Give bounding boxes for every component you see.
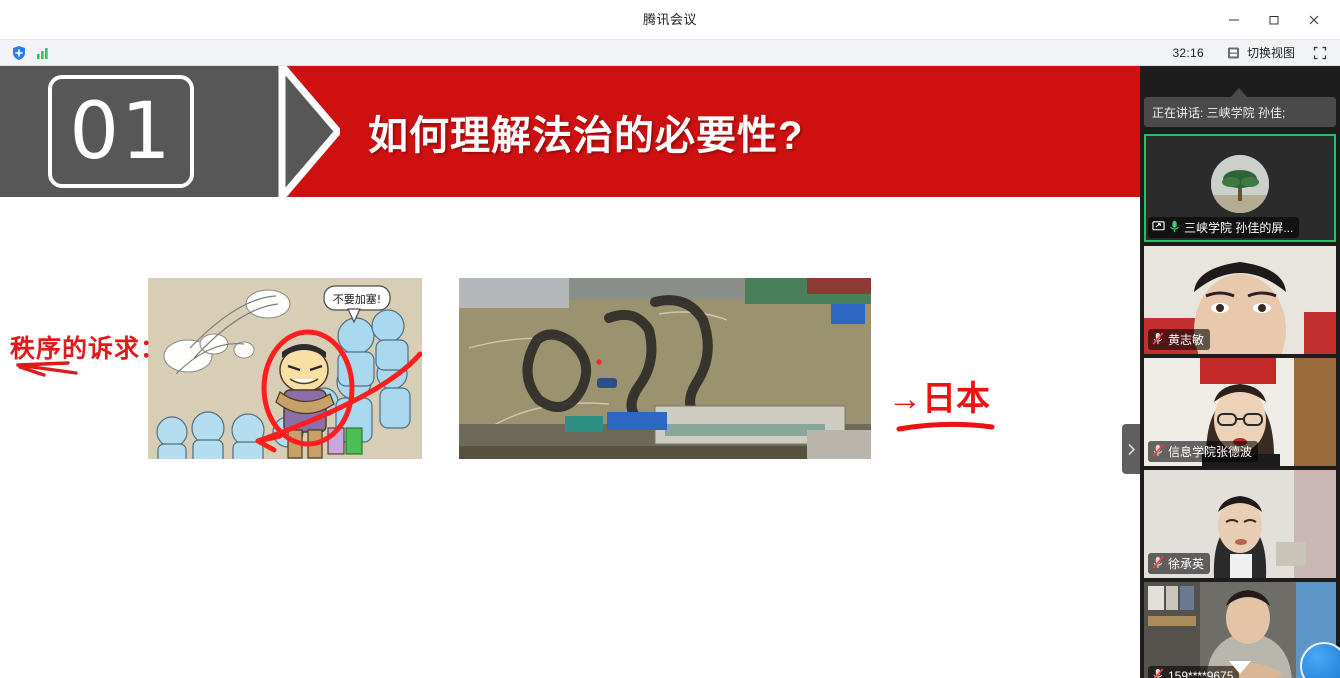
security-shield-icon[interactable] — [10, 44, 28, 62]
tree-avatar — [1211, 155, 1269, 213]
participant-name: 黄志敏 — [1168, 331, 1204, 348]
speaking-banner: 正在讲话: 三峡学院 孙佳; — [1144, 97, 1336, 127]
mic-muted-icon — [1152, 332, 1164, 348]
mic-muted-icon — [1152, 668, 1164, 678]
tile-label: 黄志敏 — [1148, 329, 1210, 350]
video-tile-participant-3[interactable]: 信息学院张德波 — [1144, 358, 1336, 466]
toolbar-right-group: 32:16 切换视图 — [1166, 42, 1340, 64]
meeting-timer: 32:16 — [1166, 45, 1210, 61]
toolbar-left-group — [0, 44, 52, 62]
cartoon-queue-cutting-image: 不要加塞! — [148, 278, 422, 459]
maximize-icon[interactable] — [1254, 5, 1294, 35]
layout-switch-icon — [1225, 44, 1243, 62]
japan-underline-stroke — [896, 419, 996, 437]
participant-video-rail: 正在讲话: 三峡学院 孙佳; — [1140, 66, 1340, 678]
mic-muted-icon — [1152, 444, 1164, 460]
slide-title: 如何理解法治的必要性? — [368, 66, 803, 197]
meeting-toolbar: 32:16 切换视图 — [0, 40, 1340, 66]
window-titlebar: 腾讯会议 — [0, 0, 1340, 40]
section-number-badge: 01 — [48, 75, 194, 188]
japan-annotation: →日本 — [888, 371, 990, 420]
switch-view-label: 切换视图 — [1247, 44, 1295, 61]
participant-name: 信息学院张德波 — [1168, 443, 1252, 460]
window-controls — [1214, 0, 1334, 40]
video-tile-shared-screen[interactable]: 三峡学院 孙佳的屏... — [1144, 134, 1336, 242]
aerial-queue-photo-image — [459, 278, 871, 459]
participant-name: 徐承英 — [1168, 555, 1204, 572]
tile-label: 三峡学院 孙佳的屏... — [1148, 217, 1299, 238]
screen-share-icon — [1152, 220, 1165, 236]
participant-name: 159****9675 — [1168, 669, 1233, 678]
svg-text:不要加塞!: 不要加塞! — [333, 292, 381, 306]
fullscreen-icon[interactable] — [1310, 44, 1330, 62]
tile-label: 徐承英 — [1148, 553, 1210, 574]
tencent-meeting-window: 腾讯会议 — [0, 0, 1340, 678]
triangle-down-icon[interactable] — [1229, 661, 1251, 674]
chevron-right-icon — [1127, 443, 1136, 456]
video-tile-participant-4[interactable]: 徐承英 — [1144, 470, 1336, 578]
mic-on-icon — [1169, 220, 1180, 236]
tile-label: 159****9675 — [1148, 666, 1239, 678]
collapse-panel-handle[interactable] — [1122, 424, 1140, 474]
switch-view-button[interactable]: 切换视图 — [1220, 42, 1300, 64]
participant-name: 三峡学院 孙佳的屏... — [1184, 219, 1293, 236]
banner-arrow-shape — [220, 66, 340, 197]
window-title: 腾讯会议 — [0, 0, 1340, 40]
shared-screen-stage: 01 如何理解法治的必要性? — [0, 66, 1140, 678]
japan-text: →日本 — [888, 381, 990, 418]
minimize-icon[interactable] — [1214, 5, 1254, 35]
order-demand-underline-stroke — [14, 359, 80, 381]
order-demand-annotation: 秩序的诉求： — [10, 329, 166, 365]
mic-muted-icon — [1152, 556, 1164, 572]
video-tile-participant-2[interactable]: 黄志敏 — [1144, 246, 1336, 354]
slide-banner: 01 如何理解法治的必要性? — [0, 66, 1140, 197]
tile-label: 信息学院张德波 — [1148, 441, 1258, 462]
close-icon[interactable] — [1294, 5, 1334, 35]
network-signal-icon[interactable] — [34, 44, 52, 62]
